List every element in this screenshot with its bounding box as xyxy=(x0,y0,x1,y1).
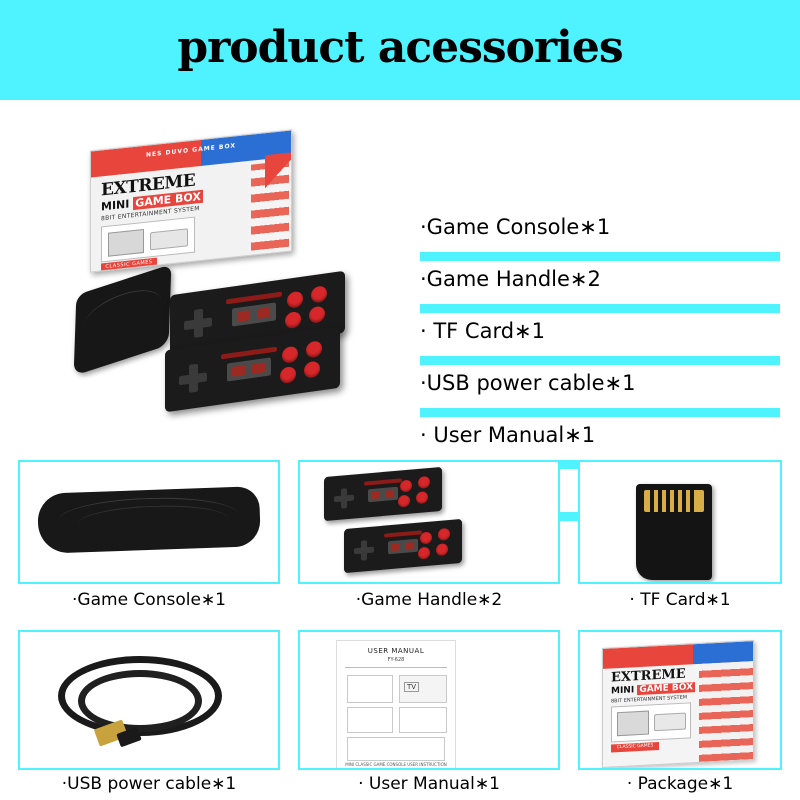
grid-cell-tf-card: · TF Card∗1 xyxy=(578,460,782,620)
list-item-bar xyxy=(420,356,780,365)
hero-section: NES DUVO GAME BOX EXTREME MINI GAME BOX … xyxy=(0,100,800,450)
list-item-label: · TF Card∗1 xyxy=(420,319,545,343)
package-box-icon: EXTREME MINI GAME BOX 8BIT ENTERTAINMENT… xyxy=(602,640,754,768)
list-item-bar xyxy=(420,408,780,417)
grid-image-frame: USER MANUAL FY-628 MINI CLASSIC GAME CON… xyxy=(298,630,560,770)
grid-image-frame xyxy=(578,460,782,584)
box-top-text: NES DUVO GAME BOX xyxy=(146,142,236,158)
gamepad-icon-2 xyxy=(344,519,462,573)
list-item: ·Game Console∗1 xyxy=(420,215,780,267)
list-item: · TF Card∗1 xyxy=(420,319,780,371)
carry-case-image xyxy=(74,264,172,376)
action-button-turbo-a xyxy=(285,311,301,329)
package-subtitle-gamebox: GAME BOX xyxy=(637,682,695,695)
action-button-a xyxy=(400,479,412,492)
manual-figure-5 xyxy=(347,737,445,761)
manual-figure-tv xyxy=(399,675,447,703)
grid-caption: ·Game Handle∗2 xyxy=(298,590,560,610)
carry-case-icon xyxy=(37,486,261,554)
action-button-b xyxy=(311,285,327,303)
list-item-label: · User Manual∗1 xyxy=(420,423,595,447)
grid-image-frame xyxy=(298,460,560,584)
list-item-bar xyxy=(420,252,780,261)
grid-image-frame xyxy=(18,630,280,770)
tf-card-icon xyxy=(636,484,712,580)
manual-figure-4 xyxy=(399,707,447,733)
list-item: ·USB power cable∗1 xyxy=(420,371,780,423)
package-illustration xyxy=(611,702,691,742)
action-button-turbo-b xyxy=(416,491,428,504)
manual-model: FY-628 xyxy=(337,657,455,663)
package-side-stripes xyxy=(699,661,753,762)
action-button-turbo-b xyxy=(436,543,448,556)
action-button-turbo-a xyxy=(280,366,296,384)
grid-caption: ·Game Console∗1 xyxy=(18,590,280,610)
action-button-b xyxy=(418,476,430,489)
action-button-turbo-a xyxy=(398,495,410,508)
action-button-b xyxy=(438,528,450,541)
grid-cell-user-manual: USER MANUAL FY-628 MINI CLASSIC GAME CON… xyxy=(298,630,560,795)
select-start-buttons xyxy=(368,487,398,503)
select-start-buttons xyxy=(232,302,276,326)
box-corner-flag xyxy=(265,152,291,195)
dpad-icon xyxy=(354,540,374,562)
accessory-grid: ·Game Console∗1 ·Game xyxy=(0,452,800,800)
gamepad-stripe xyxy=(364,478,402,485)
dpad-icon xyxy=(179,362,207,394)
action-button-turbo-b xyxy=(304,361,320,379)
gamepad-icon-1 xyxy=(324,467,442,521)
usb-cable-icon xyxy=(48,650,238,750)
grid-caption: · User Manual∗1 xyxy=(298,774,560,794)
manual-footer-text: MINI CLASSIC GAME CONSOLE USER INSTRUCTI… xyxy=(337,762,455,767)
action-button-a xyxy=(282,346,298,364)
select-start-buttons xyxy=(388,539,418,555)
dpad-icon xyxy=(334,488,354,510)
box-product-illustration xyxy=(101,217,195,263)
page-title: product acessories xyxy=(0,22,800,73)
grid-cell-package: EXTREME MINI GAME BOX 8BIT ENTERTAINMENT… xyxy=(578,630,782,795)
grid-caption: · Package∗1 xyxy=(578,774,782,794)
list-item: ·Game Handle∗2 xyxy=(420,267,780,319)
box-subtitle-mini: MINI xyxy=(101,197,129,213)
hero-product-photo: NES DUVO GAME BOX EXTREME MINI GAME BOX … xyxy=(55,120,385,420)
list-item-label: ·USB power cable∗1 xyxy=(420,371,636,395)
cable-loop-inner xyxy=(78,670,202,732)
list-item-label: ·Game Console∗1 xyxy=(420,215,610,239)
action-button-b xyxy=(306,340,322,358)
gamepad-stripe xyxy=(384,530,422,537)
action-button-turbo-a xyxy=(418,547,430,560)
header-banner: product acessories xyxy=(0,0,800,100)
list-item-bar xyxy=(420,304,780,313)
retail-box-image: NES DUVO GAME BOX EXTREME MINI GAME BOX … xyxy=(90,129,292,272)
grid-cell-game-console: ·Game Console∗1 xyxy=(18,460,280,620)
grid-image-frame xyxy=(18,460,280,584)
package-classic-games-badge: CLASSIC GAMES xyxy=(611,742,659,753)
package-subtitle-mini: MINI xyxy=(611,685,634,696)
manual-figure-1 xyxy=(347,675,393,703)
grid-cell-usb-cable: ·USB power cable∗1 xyxy=(18,630,280,795)
manual-figure-3 xyxy=(347,707,393,733)
user-manual-icon: USER MANUAL FY-628 MINI CLASSIC GAME CON… xyxy=(336,640,456,770)
action-button-a xyxy=(420,531,432,544)
manual-divider xyxy=(345,667,447,668)
select-start-buttons xyxy=(227,357,271,381)
grid-image-frame: EXTREME MINI GAME BOX 8BIT ENTERTAINMENT… xyxy=(578,630,782,770)
tf-card-contacts xyxy=(644,490,704,512)
action-button-turbo-b xyxy=(309,306,325,324)
action-button-a xyxy=(287,291,303,309)
grid-cell-game-handle: ·Game Handle∗2 xyxy=(298,460,560,620)
manual-title: USER MANUAL xyxy=(337,647,455,655)
grid-caption: ·USB power cable∗1 xyxy=(18,774,280,794)
list-item-label: ·Game Handle∗2 xyxy=(420,267,601,291)
grid-caption: · TF Card∗1 xyxy=(578,590,782,610)
dpad-icon xyxy=(184,307,212,339)
